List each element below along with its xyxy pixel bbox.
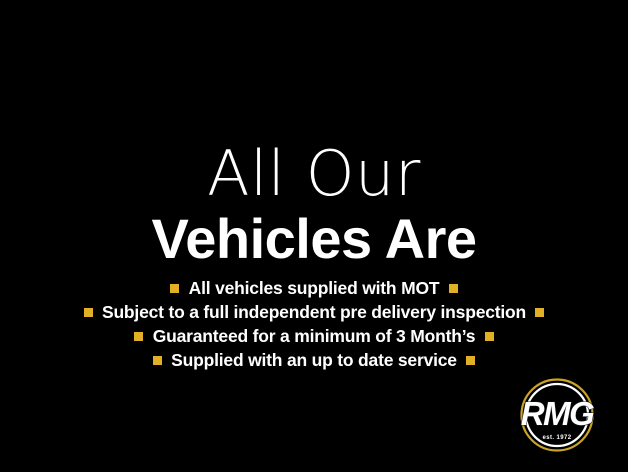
list-item-label: All vehicles supplied with MOT [189, 278, 440, 298]
square-bullet-icon [466, 356, 475, 365]
feature-list: All vehicles supplied with MOT Subject t… [0, 276, 628, 372]
promo-poster: All Our Vehicles Are All vehicles suppli… [0, 0, 628, 472]
rmg-logo: RMG est. 1972 [505, 375, 613, 467]
headline-line-2: Vehicles Are [0, 210, 628, 268]
list-item: Subject to a full independent pre delive… [0, 300, 628, 324]
headline-line-1: All Our [0, 140, 628, 208]
square-bullet-icon [535, 308, 544, 317]
square-bullet-icon [84, 308, 93, 317]
square-bullet-icon [170, 284, 179, 293]
list-item-label: Guaranteed for a minimum of 3 Month’s [153, 326, 476, 346]
list-item: All vehicles supplied with MOT [0, 276, 628, 300]
list-item-label: Supplied with an up to date service [171, 350, 457, 370]
logo-established-text: est. 1972 [543, 435, 572, 441]
square-bullet-icon [485, 332, 494, 341]
square-bullet-icon [134, 332, 143, 341]
page-title: All Our Vehicles Are [0, 140, 628, 268]
square-bullet-icon [449, 284, 458, 293]
list-item: Supplied with an up to date service [0, 348, 628, 372]
list-item-label: Subject to a full independent pre delive… [102, 302, 526, 322]
logo-wordmark: RMG [521, 395, 594, 432]
square-bullet-icon [153, 356, 162, 365]
list-item: Guaranteed for a minimum of 3 Month’s [0, 324, 628, 348]
